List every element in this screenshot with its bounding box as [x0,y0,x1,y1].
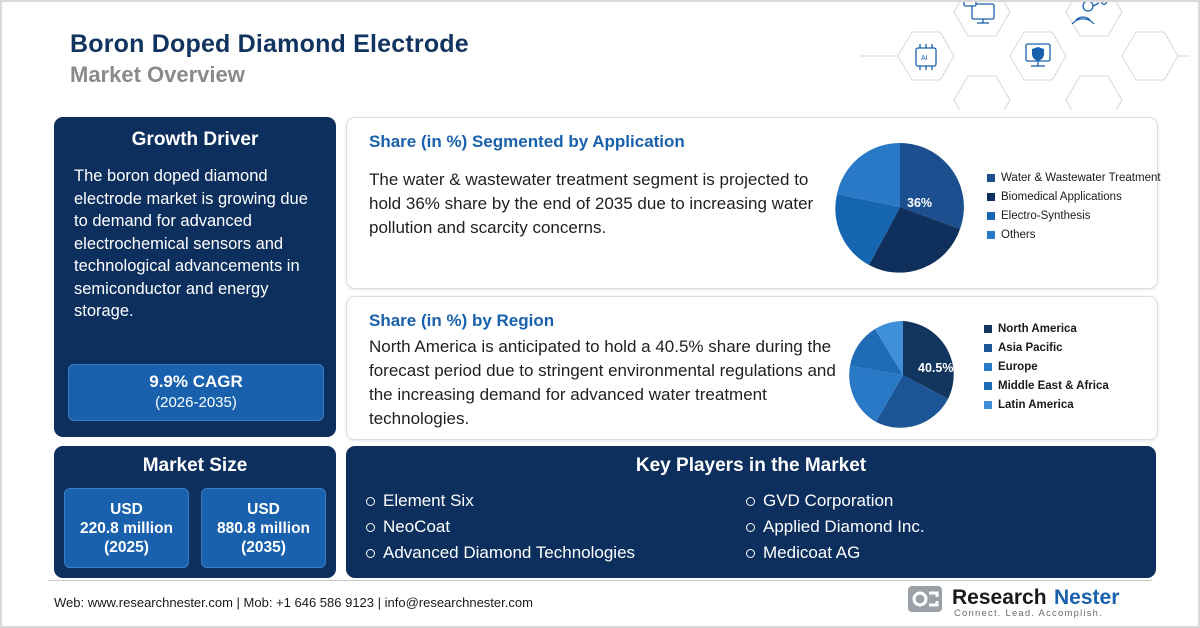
legend-item: Middle East & Africa [984,380,1109,392]
key-player-name: NeoCoat [383,514,450,540]
svg-text:Connect. Lead. Accomplish.: Connect. Lead. Accomplish. [954,608,1103,619]
legend-label: Asia Pacific [998,342,1063,354]
legend-swatch-icon [987,231,995,239]
market-size-currency: USD [65,500,188,519]
circle-bullet-icon [746,523,755,532]
legend-item: Water & Wastewater Treatment [987,172,1161,184]
application-pie-data-label: 36% [907,196,932,210]
legend-label: Europe [998,361,1038,373]
region-pie-data-label: 40.5% [918,361,953,375]
legend-label: North America [998,323,1077,335]
legend-label: Water & Wastewater Treatment [1001,172,1161,184]
cagr-period: (2026-2035) [69,394,323,411]
svg-text:AI: AI [921,55,928,62]
legend-label: Electro-Synthesis [1001,210,1090,222]
key-players-card: Key Players in the Market Element Six Ne… [346,446,1156,578]
market-size-title: Market Size [54,455,336,477]
footer-divider [48,580,1152,581]
circle-bullet-icon [366,497,375,506]
list-item: NeoCoat [366,514,746,540]
key-players-column-left: Element Six NeoCoat Advanced Diamond Tec… [366,488,746,566]
legend-swatch-icon [984,401,992,409]
svg-text:Research: Research [952,586,1047,609]
region-legend: North America Asia Pacific Europe Middle… [984,323,1109,418]
legend-item: North America [984,323,1109,335]
market-size-year: (2035) [202,538,325,557]
research-nester-logo: Research Nester Connect. Lead. Accomplis… [908,584,1148,620]
legend-label: Biomedical Applications [1001,191,1122,203]
region-share-panel: Share (in %) by Region North America is … [346,296,1158,440]
list-item: GVD Corporation [746,488,1126,514]
region-panel-text: North America is anticipated to hold a 4… [369,335,839,431]
market-size-currency: USD [202,500,325,519]
circle-bullet-icon [746,549,755,558]
market-size-box: USD 220.8 million (2025) [64,488,189,568]
growth-driver-text: The boron doped diamond electrode market… [74,165,318,323]
key-player-name: Medicoat AG [763,540,860,566]
legend-item: Biomedical Applications [987,191,1161,203]
circle-bullet-icon [366,523,375,532]
legend-label: Middle East & Africa [998,380,1109,392]
application-panel-heading: Share (in %) Segmented by Application [369,132,685,152]
legend-swatch-icon [984,325,992,333]
list-item: Applied Diamond Inc. [746,514,1126,540]
legend-item: Electro-Synthesis [987,210,1161,222]
header: Boron Doped Diamond Electrode Market Ove… [2,2,1198,102]
list-item: Element Six [366,488,746,514]
page-subtitle: Market Overview [70,62,245,88]
footer-contact: Web: www.researchnester.com | Mob: +1 64… [54,595,533,610]
key-players-columns: Element Six NeoCoat Advanced Diamond Tec… [366,488,1136,566]
growth-driver-card: Growth Driver The boron doped diamond el… [54,117,336,437]
cagr-value: 9.9% CAGR [69,372,323,392]
region-pie-chart [847,319,959,431]
page-title: Boron Doped Diamond Electrode [70,30,469,59]
market-size-boxes: USD 220.8 million (2025) USD 880.8 milli… [64,488,326,568]
region-panel-heading: Share (in %) by Region [369,311,554,331]
key-player-name: Advanced Diamond Technologies [383,540,635,566]
legend-swatch-icon [987,193,995,201]
cagr-badge: 9.9% CAGR (2026-2035) [68,364,324,421]
market-size-year: (2025) [65,538,188,557]
market-size-box: USD 880.8 million (2035) [201,488,326,568]
application-pie-chart [833,140,967,274]
application-legend: Water & Wastewater Treatment Biomedical … [987,172,1161,248]
key-player-name: Element Six [383,488,474,514]
legend-label: Latin America [998,399,1074,411]
list-item: Advanced Diamond Technologies [366,540,746,566]
application-panel-text: The water & wastewater treatment segment… [369,168,839,240]
legend-item: Asia Pacific [984,342,1109,354]
legend-swatch-icon [984,363,992,371]
legend-swatch-icon [987,174,995,182]
poster-frame: Boron Doped Diamond Electrode Market Ove… [0,0,1200,628]
hexagon-tech-decoration: AI [860,2,1190,110]
key-players-title: Key Players in the Market [346,455,1156,477]
circle-bullet-icon [366,549,375,558]
legend-swatch-icon [987,212,995,220]
key-player-name: GVD Corporation [763,488,893,514]
legend-item: Others [987,229,1161,241]
market-size-value: 880.8 million [202,519,325,538]
application-share-panel: Share (in %) Segmented by Application Th… [346,117,1158,289]
legend-swatch-icon [984,344,992,352]
market-size-value: 220.8 million [65,519,188,538]
list-item: Medicoat AG [746,540,1126,566]
svg-text:Nester: Nester [1054,586,1119,609]
key-player-name: Applied Diamond Inc. [763,514,925,540]
market-size-card: Market Size USD 220.8 million (2025) USD… [54,446,336,578]
legend-swatch-icon [984,382,992,390]
legend-item: Europe [984,361,1109,373]
growth-driver-title: Growth Driver [54,129,336,151]
key-players-column-right: GVD Corporation Applied Diamond Inc. Med… [746,488,1126,566]
legend-item: Latin America [984,399,1109,411]
legend-label: Others [1001,229,1036,241]
circle-bullet-icon [746,497,755,506]
